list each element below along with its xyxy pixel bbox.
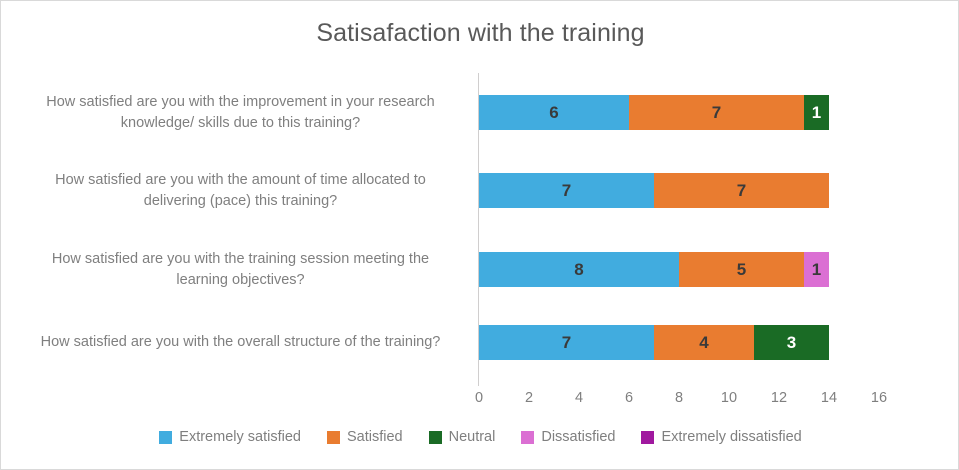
bar-segment[interactable]: 4	[654, 325, 754, 360]
bar-value-label: 7	[562, 333, 571, 353]
bar-row: How satisfied are you with the improveme…	[1, 81, 959, 159]
legend-swatch-icon	[327, 431, 340, 444]
category-label-line: delivering (pace) this training?	[13, 191, 468, 212]
bar-segment[interactable]: 1	[804, 252, 829, 287]
bar-value-label: 6	[549, 103, 558, 123]
bar-value-label: 7	[737, 181, 746, 201]
bar-value-label: 5	[737, 260, 746, 280]
bar-value-label: 1	[812, 260, 821, 280]
legend-swatch-icon	[641, 431, 654, 444]
legend-swatch-icon	[429, 431, 442, 444]
legend-item[interactable]: Neutral	[429, 429, 496, 445]
bar-segment[interactable]: 7	[479, 325, 654, 360]
bar-value-label: 3	[787, 333, 796, 353]
x-axis-tick: 8	[659, 390, 699, 406]
bar-row: How satisfied are you with the training …	[1, 239, 959, 317]
bar-value-label: 7	[562, 181, 571, 201]
plot-area: How satisfied are you with the improveme…	[1, 1, 959, 470]
legend-label: Neutral	[449, 429, 496, 445]
bar-value-label: 4	[699, 333, 708, 353]
x-axis-tick: 0	[459, 390, 499, 406]
category-label: How satisfied are you with the improveme…	[13, 92, 468, 134]
x-axis-tick-labels: 0246810121416	[1, 390, 959, 412]
legend-label: Satisfied	[347, 429, 403, 445]
x-axis-tick: 12	[759, 390, 799, 406]
x-axis-tick: 4	[559, 390, 599, 406]
bar-row: How satisfied are you with the amount of…	[1, 160, 959, 238]
bar-row: How satisfied are you with the overall s…	[1, 319, 959, 397]
legend-item[interactable]: Satisfied	[327, 429, 403, 445]
category-label-line: How satisfied are you with the amount of…	[13, 170, 468, 191]
legend-item[interactable]: Dissatisfied	[521, 429, 615, 445]
stacked-bar[interactable]: 851	[479, 252, 829, 287]
category-label-line: learning objectives?	[13, 270, 468, 291]
category-label: How satisfied are you with the training …	[13, 249, 468, 291]
legend-swatch-icon	[159, 431, 172, 444]
legend-swatch-icon	[521, 431, 534, 444]
bar-value-label: 7	[712, 103, 721, 123]
bar-segment[interactable]: 6	[479, 95, 629, 130]
x-axis-tick: 16	[859, 390, 899, 406]
bar-segment[interactable]: 7	[629, 95, 804, 130]
bar-segment[interactable]: 1	[804, 95, 829, 130]
legend-label: Dissatisfied	[541, 429, 615, 445]
category-label: How satisfied are you with the overall s…	[13, 332, 468, 353]
legend-item[interactable]: Extremely satisfied	[159, 429, 301, 445]
x-axis-tick: 10	[709, 390, 749, 406]
bar-segment[interactable]: 5	[679, 252, 804, 287]
x-axis-tick: 14	[809, 390, 849, 406]
stacked-bar[interactable]: 77	[479, 173, 829, 208]
bar-segment[interactable]: 7	[479, 173, 654, 208]
bar-segment[interactable]: 3	[754, 325, 829, 360]
stacked-bar[interactable]: 743	[479, 325, 829, 360]
category-label-line: How satisfied are you with the training …	[13, 249, 468, 270]
bar-segment[interactable]: 8	[479, 252, 679, 287]
bar-segment[interactable]: 7	[654, 173, 829, 208]
bar-value-label: 8	[574, 260, 583, 280]
bar-value-label: 1	[812, 103, 821, 123]
stacked-bar[interactable]: 671	[479, 95, 829, 130]
x-axis-tick: 6	[609, 390, 649, 406]
category-label-line: How satisfied are you with the improveme…	[13, 92, 468, 113]
category-label-line: knowledge/ skills due to this training?	[13, 113, 468, 134]
chart-container: Satisafaction with the training How sati…	[0, 0, 959, 470]
legend-label: Extremely dissatisfied	[661, 429, 801, 445]
legend-item[interactable]: Extremely dissatisfied	[641, 429, 801, 445]
category-label-line: How satisfied are you with the overall s…	[13, 332, 468, 353]
x-axis-tick: 2	[509, 390, 549, 406]
legend-label: Extremely satisfied	[179, 429, 301, 445]
chart-legend: Extremely satisfiedSatisfiedNeutralDissa…	[1, 429, 959, 445]
category-label: How satisfied are you with the amount of…	[13, 170, 468, 212]
